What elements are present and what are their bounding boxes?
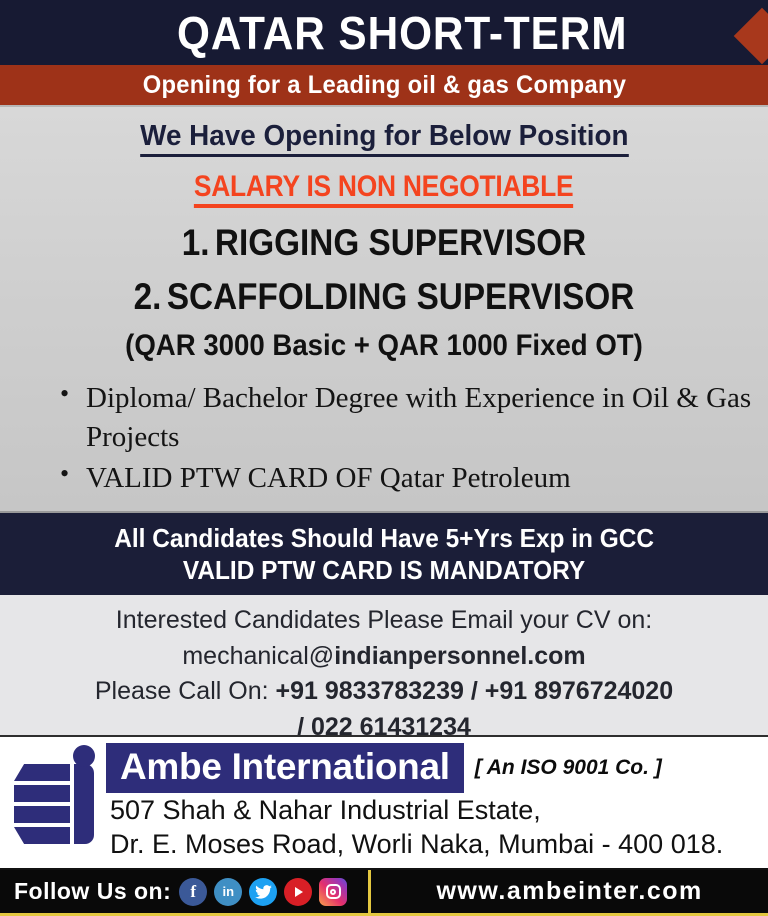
header-subtitle-band: Opening for a Leading oil & gas Company (0, 65, 768, 107)
position-title: SCAFFOLDING SUPERVISOR (167, 276, 634, 317)
contact-section: Interested Candidates Please Email your … (0, 595, 768, 735)
list-item: 1.RIGGING SUPERVISOR (38, 224, 729, 262)
salary-breakdown: (QAR 3000 Basic + QAR 1000 Fixed OT) (31, 329, 738, 363)
positions-list: 1.RIGGING SUPERVISOR 2.SCAFFOLDING SUPER… (0, 224, 768, 315)
follow-us-group: Follow Us on: f in (0, 878, 354, 906)
twitter-icon[interactable] (249, 878, 277, 906)
ambe-monogram-icon (12, 747, 98, 851)
website-url[interactable]: www.ambeinter.com (371, 877, 768, 906)
list-item: 2.SCAFFOLDING SUPERVISOR (38, 278, 729, 316)
company-details: Ambe International [ An ISO 9001 Co. ] 5… (98, 743, 768, 862)
youtube-icon[interactable] (284, 878, 312, 906)
position-title: RIGGING SUPERVISOR (215, 222, 586, 263)
linkedin-icon[interactable]: in (214, 878, 242, 906)
company-footer: Ambe International [ An ISO 9001 Co. ] 5… (0, 735, 768, 868)
contact-email[interactable]: mechanical@indianpersonnel.com (0, 639, 768, 675)
position-number: 2. (134, 276, 162, 317)
mandatory-notes-band: All Candidates Should Have 5+Yrs Exp in … (0, 511, 768, 595)
header-subtitle: Opening for a Leading oil & gas Company (142, 71, 626, 100)
position-number: 1. (182, 222, 210, 263)
page-title: QATAR SHORT-TERM (140, 10, 627, 56)
phone-numbers: +91 9833783239 / +91 8976724020 (276, 677, 674, 705)
address-line-1: 507 Shah & Nahar Industrial Estate, (110, 793, 768, 827)
requirements-list: Diploma/ Bachelor Degree with Experience… (0, 379, 768, 497)
list-item: VALID PTW CARD OF Qatar Petroleum (60, 459, 768, 498)
contact-phones-primary[interactable]: Please Call On: +91 9833783239 / +91 897… (0, 674, 768, 710)
email-prefix: mechanical@ (182, 642, 334, 670)
follow-us-label: Follow Us on: (14, 878, 171, 905)
facebook-icon[interactable]: f (179, 878, 207, 906)
instagram-icon[interactable] (319, 878, 347, 906)
main-content: We Have Opening for Below Position SALAR… (0, 107, 768, 511)
job-advertisement-poster: QATAR SHORT-TERM Opening for a Leading o… (0, 0, 768, 916)
salary-alert-text: SALARY IS NON NEGOTIABLE (194, 170, 573, 208)
social-footer-bar: Follow Us on: f in www.ambeinter.com (0, 868, 768, 916)
experience-note: All Candidates Should Have 5+Yrs Exp in … (114, 522, 654, 554)
opening-headline: We Have Opening for Below Position (140, 120, 628, 157)
contact-intro: Interested Candidates Please Email your … (0, 603, 768, 639)
diamond-accent-icon (734, 8, 768, 65)
ptw-mandatory-note: VALID PTW CARD IS MANDATORY (183, 554, 585, 586)
header-title-band: QATAR SHORT-TERM (0, 0, 768, 65)
address-line-2: Dr. E. Moses Road, Worli Naka, Mumbai - … (110, 827, 768, 861)
iso-certification-badge: [ An ISO 9001 Co. ] (475, 756, 662, 780)
company-name: Ambe International (106, 743, 464, 793)
email-domain: indianpersonnel.com (334, 642, 585, 670)
call-label: Please Call On: (95, 677, 276, 705)
company-name-row: Ambe International [ An ISO 9001 Co. ] (106, 743, 768, 793)
list-item: Diploma/ Bachelor Degree with Experience… (60, 379, 768, 456)
